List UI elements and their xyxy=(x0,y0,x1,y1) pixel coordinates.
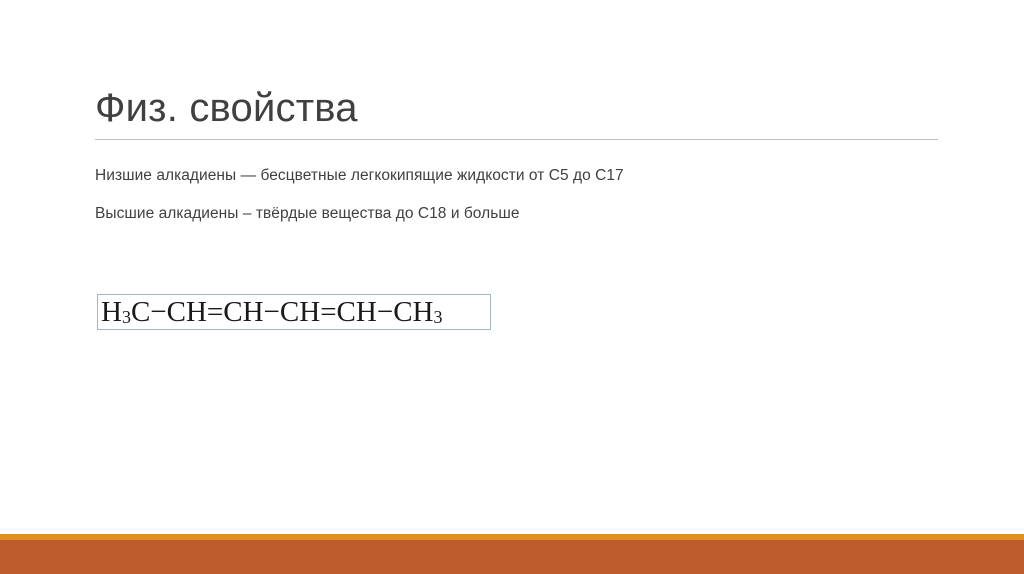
body-line-higher-alkadienes: Высшие алкадиены – твёрдые вещества до С… xyxy=(95,195,945,233)
body-text-block: Низшие алкадиены — бесцветные легкокипящ… xyxy=(95,157,945,233)
title-divider xyxy=(95,139,938,140)
chemical-formula-text: H3C−CH=CH−CH=CH−CH3 xyxy=(101,294,442,330)
footer-primary-band xyxy=(0,540,1024,574)
page-title: Физ. свойства xyxy=(95,84,940,132)
body-line-lower-alkadienes: Низшие алкадиены — бесцветные легкокипящ… xyxy=(95,157,945,195)
slide-canvas: Физ. свойства Низшие алкадиены — бесцвет… xyxy=(0,0,1024,574)
formula-segment-1: H xyxy=(101,295,122,329)
formula-segment-2: C−CH=CH−CH=CH−CH xyxy=(131,295,434,329)
formula-subscript-2: 3 xyxy=(433,300,442,334)
chemical-formula-box: H3C−CH=CH−CH=CH−CH3 xyxy=(97,294,491,330)
formula-subscript-1: 3 xyxy=(122,300,131,334)
